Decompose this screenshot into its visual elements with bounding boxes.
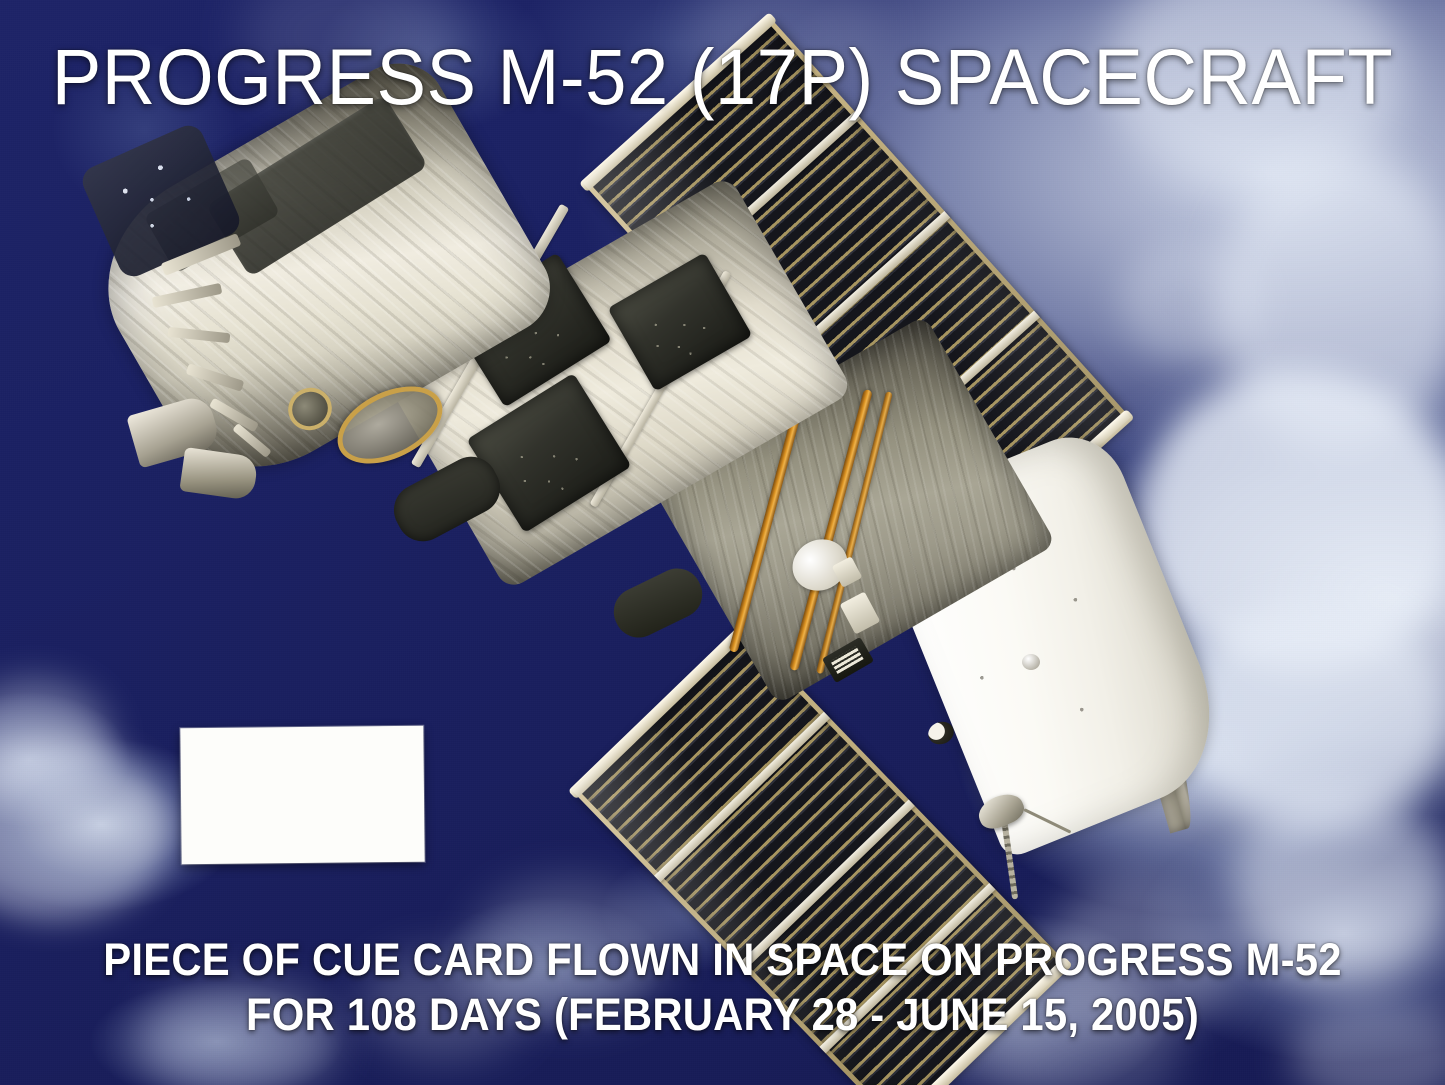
earth-background bbox=[0, 0, 1445, 1085]
page-title: PROGRESS M-52 (17P) SPACECRAFT bbox=[43, 36, 1401, 119]
flown-material-swatch bbox=[180, 726, 424, 865]
caption-line-1: PIECE OF CUE CARD FLOWN IN SPACE ON PROG… bbox=[51, 933, 1395, 988]
progress-m52-commemorative-card: PROGRESS M-52 (17P) SPACECRAFT PIECE OF … bbox=[0, 0, 1445, 1085]
caption-line-2: FOR 108 DAYS (FEBRUARY 28 - JUNE 15, 200… bbox=[51, 988, 1395, 1043]
caption-block: PIECE OF CUE CARD FLOWN IN SPACE ON PROG… bbox=[51, 933, 1395, 1043]
